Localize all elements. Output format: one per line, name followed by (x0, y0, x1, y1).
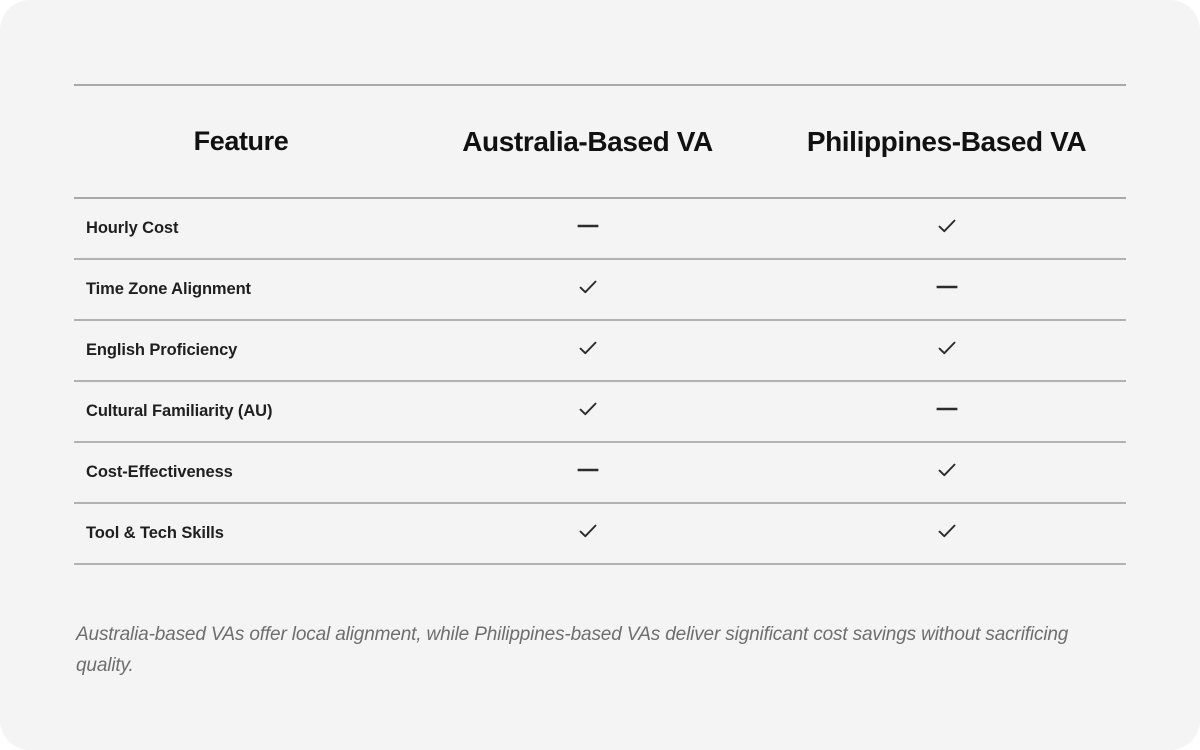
dash-icon (575, 213, 601, 239)
cell-australia (408, 259, 767, 320)
cell-philippines (767, 381, 1126, 442)
check-icon (575, 335, 601, 361)
cell-philippines (767, 320, 1126, 381)
cell-australia (408, 381, 767, 442)
table-row: English Proficiency (74, 320, 1126, 381)
table-header-row: Feature Australia-Based VA Philippines-B… (74, 85, 1126, 198)
cell-philippines (767, 259, 1126, 320)
check-icon (934, 457, 960, 483)
feature-label: Cost-Effectiveness (74, 442, 408, 503)
feature-label: English Proficiency (74, 320, 408, 381)
check-icon (934, 213, 960, 239)
feature-label: Tool & Tech Skills (74, 503, 408, 564)
check-icon (575, 274, 601, 300)
cell-australia (408, 442, 767, 503)
check-icon (575, 518, 601, 544)
cell-philippines (767, 442, 1126, 503)
cell-australia (408, 198, 767, 259)
column-header-australia: Australia-Based VA (408, 85, 767, 198)
check-icon (934, 518, 960, 544)
table-row: Time Zone Alignment (74, 259, 1126, 320)
table-header: Feature Australia-Based VA Philippines-B… (74, 85, 1126, 198)
column-header-philippines: Philippines-Based VA (767, 85, 1126, 198)
cell-philippines (767, 198, 1126, 259)
check-icon (934, 335, 960, 361)
comparison-card: Feature Australia-Based VA Philippines-B… (0, 0, 1200, 750)
table-row: Hourly Cost (74, 198, 1126, 259)
column-header-feature: Feature (74, 85, 408, 198)
feature-label: Hourly Cost (74, 198, 408, 259)
table-row: Cultural Familiarity (AU) (74, 381, 1126, 442)
table-body: Hourly CostTime Zone AlignmentEnglish Pr… (74, 198, 1126, 564)
cell-australia (408, 503, 767, 564)
dash-icon (575, 457, 601, 483)
feature-label: Cultural Familiarity (AU) (74, 381, 408, 442)
comparison-table: Feature Australia-Based VA Philippines-B… (74, 84, 1126, 565)
table-row: Cost-Effectiveness (74, 442, 1126, 503)
dash-icon (934, 274, 960, 300)
table-caption: Australia-based VAs offer local alignmen… (76, 620, 1096, 682)
table-row: Tool & Tech Skills (74, 503, 1126, 564)
dash-icon (934, 396, 960, 422)
comparison-table-wrapper: Feature Australia-Based VA Philippines-B… (74, 84, 1126, 565)
feature-label: Time Zone Alignment (74, 259, 408, 320)
cell-australia (408, 320, 767, 381)
check-icon (575, 396, 601, 422)
cell-philippines (767, 503, 1126, 564)
